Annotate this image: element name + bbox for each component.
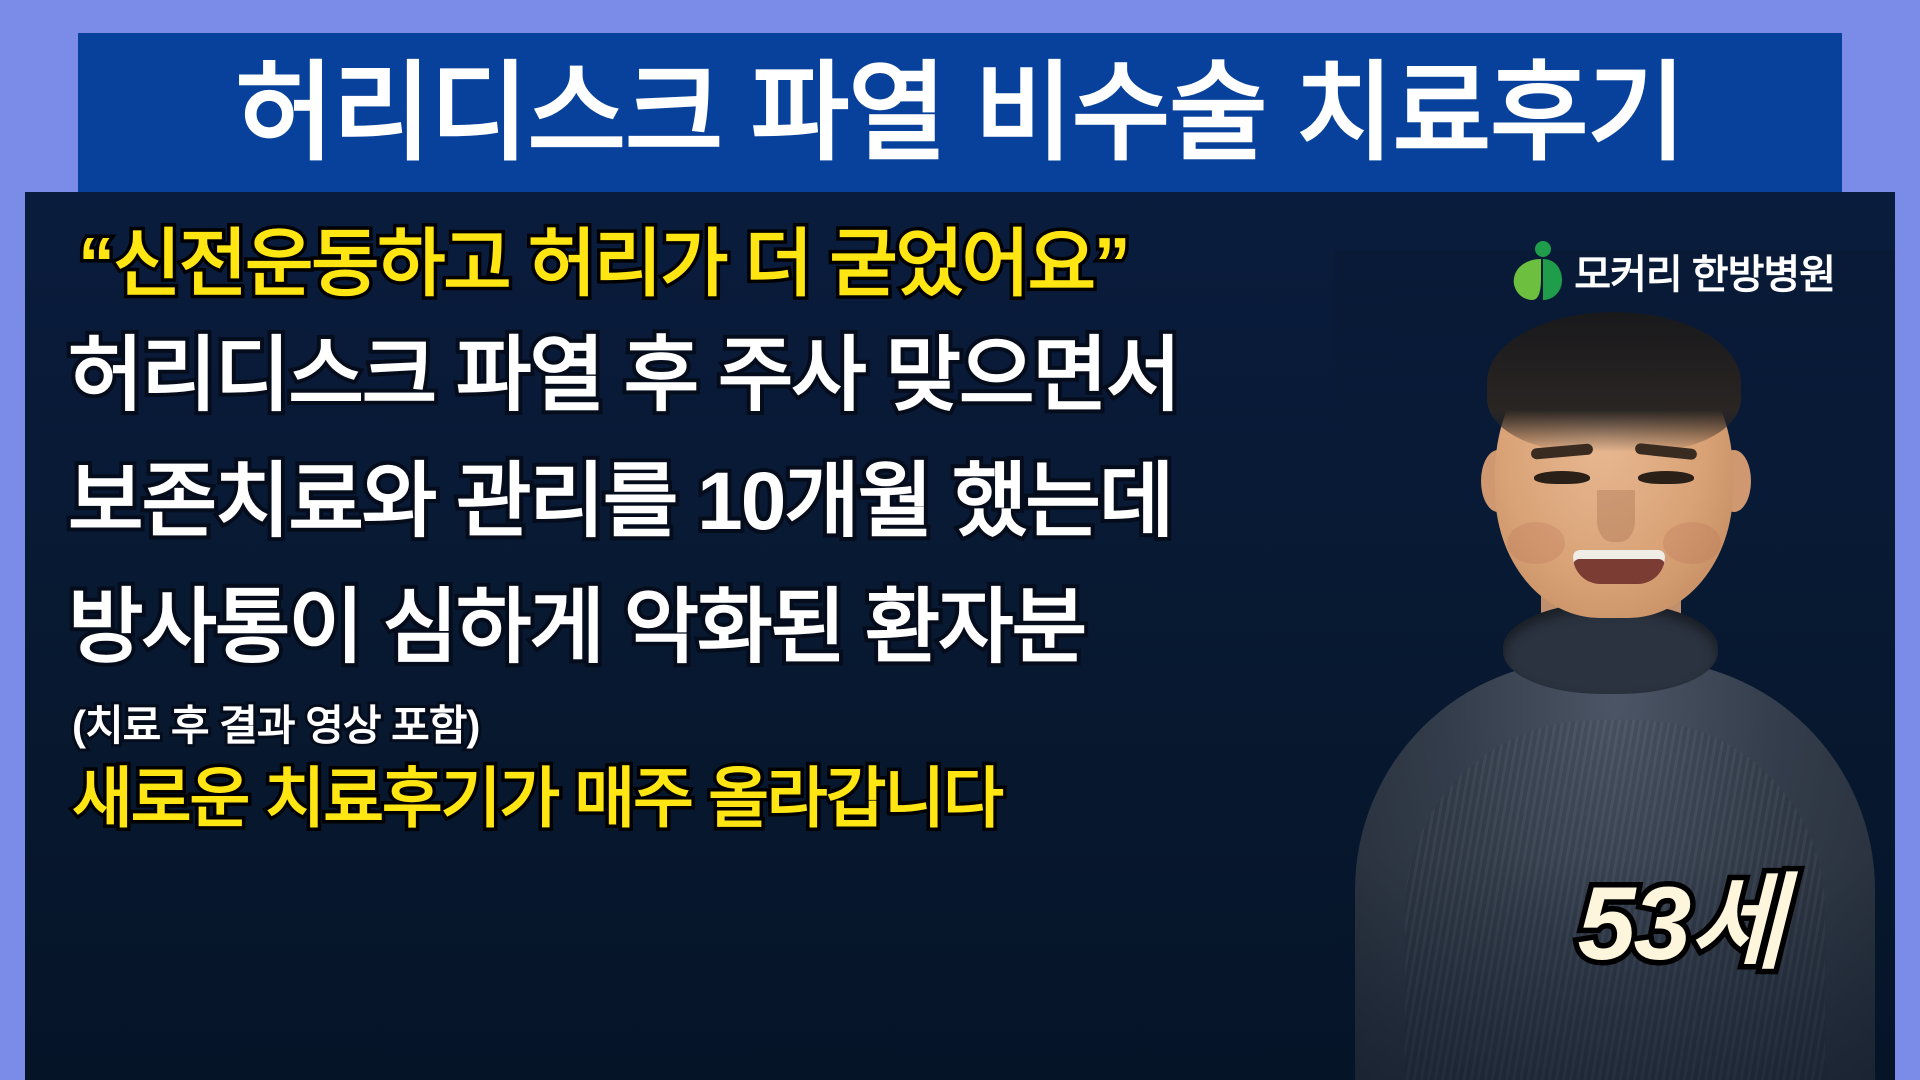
- note-text: (치료 후 결과 영상 포함): [72, 705, 1618, 747]
- body-line-3: 방사통이 심하게 악화된 환자분: [68, 587, 1618, 669]
- hospital-logo: 모커리 한방병원: [1510, 240, 1835, 302]
- title-banner: 허리디스크 파열 비수술 치료후기: [78, 33, 1842, 192]
- body-line-1: 허리디스크 파열 후 주사 맞으면서: [68, 335, 1618, 417]
- main-panel: 모커리 한방병원 “신전운동하고 허리가 더 굳었어요” 허리디스크 파열 후 …: [25, 192, 1895, 1080]
- video-thumbnail: 허리디스크 파열 비수술 치료후기: [0, 0, 1920, 1080]
- promo-text: 새로운 치료후기가 매주 올라갑니다: [72, 765, 1618, 831]
- hospital-logo-text: 모커리 한방병원: [1574, 242, 1835, 300]
- patient-quote: “신전운동하고 허리가 더 굳었어요”: [78, 226, 1618, 301]
- page-title: 허리디스크 파열 비수술 치료후기: [235, 59, 1684, 167]
- age-badge: 53세: [1578, 872, 1783, 976]
- copy-block: “신전운동하고 허리가 더 굳었어요” 허리디스크 파열 후 주사 맞으면서 보…: [58, 226, 1618, 831]
- green-leaf-person-icon: [1510, 240, 1562, 302]
- body-line-2: 보존치료와 관리를 10개월 했는데: [68, 461, 1618, 543]
